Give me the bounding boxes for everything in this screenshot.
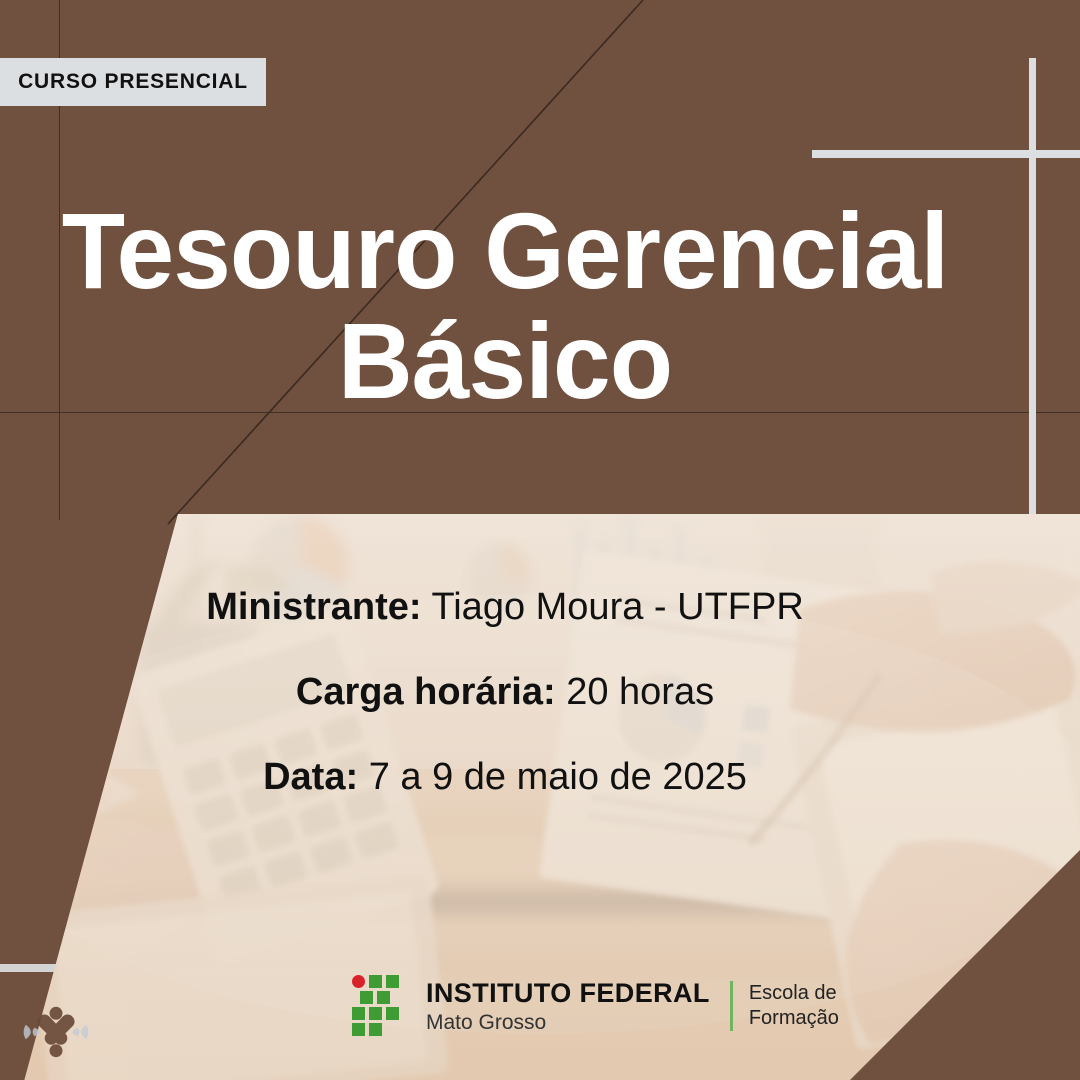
institutional-logo: INSTITUTO FEDERAL Mato Grosso Escola de …: [352, 975, 839, 1037]
detail-value-data: 7 a 9 de maio de 2025: [369, 756, 747, 798]
detail-key-carga-horaria: Carga horária:: [296, 671, 556, 713]
logo-unit-line1: Escola de: [749, 981, 839, 1006]
status-badge: CURSO PRESENCIAL: [0, 58, 266, 106]
detail-key-data: Data:: [263, 756, 358, 798]
accent-rule-vertical-top: [1029, 58, 1036, 516]
logo-subtitle: Mato Grosso: [426, 1012, 710, 1033]
page-title: Tesouro Gerencial Básico: [0, 196, 1010, 416]
detail-key-ministrante: Ministrante:: [206, 586, 421, 628]
logo-unit-line2: Formação: [749, 1006, 839, 1031]
logo-unit: Escola de Formação: [749, 981, 839, 1031]
detail-value-ministrante: Tiago Moura - UTFPR: [431, 586, 803, 628]
course-details: Ministrante: Tiago Moura - UTFPR Carga h…: [0, 586, 1010, 841]
detail-row: Carga horária: 20 horas: [0, 671, 1010, 714]
title-line-1: Tesouro Gerencial: [20, 196, 990, 306]
detail-row: Data: 7 a 9 de maio de 2025: [0, 756, 1010, 799]
accent-rule-horizontal-top: [812, 150, 1080, 158]
if-logo-mark-icon: [352, 975, 414, 1037]
detail-row: Ministrante: Tiago Moura - UTFPR: [0, 586, 1010, 629]
logo-title: INSTITUTO FEDERAL: [426, 980, 710, 1007]
badge-label: CURSO PRESENCIAL: [18, 70, 248, 94]
title-line-2: Básico: [20, 306, 990, 416]
logo-divider: [730, 981, 733, 1031]
course-poster: CURSO PRESENCIAL Tesouro Gerencial Básic…: [0, 0, 1080, 1080]
people-x-icon: [20, 996, 92, 1068]
logo-wordmark: INSTITUTO FEDERAL Mato Grosso: [426, 980, 710, 1033]
detail-value-carga-horaria: 20 horas: [566, 671, 714, 713]
